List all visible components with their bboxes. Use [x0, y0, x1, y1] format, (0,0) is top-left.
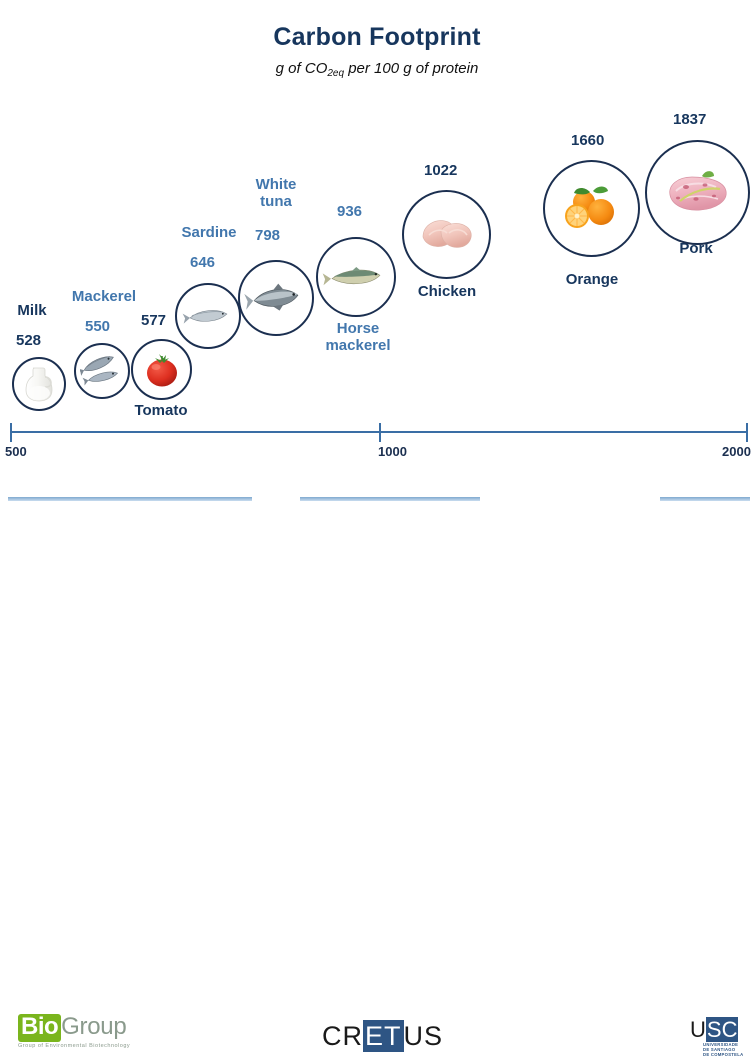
bubble-orange[interactable] [543, 160, 640, 257]
bubble-pork[interactable] [645, 140, 750, 245]
bubble-chicken[interactable] [402, 190, 491, 279]
biogroup-group-text: Group [61, 1014, 126, 1040]
usc-logo[interactable]: USC UNIVERSIDADE DE SANTIAGO DE COMPOSTE… [690, 1019, 743, 1057]
value-horse-mackerel: 936 [337, 203, 362, 220]
footer-divider-left [8, 497, 252, 501]
biogroup-tagline: Group of Environmental Biotechnology [18, 1043, 130, 1049]
bubble-milk[interactable] [12, 357, 66, 411]
biogroup-bio-text: Bio [18, 1014, 61, 1042]
label-mackerel: Mackerel [64, 288, 144, 305]
cretus-part2: ET [363, 1020, 404, 1052]
label-sardine: Sardine [170, 224, 248, 241]
usc-subtitle: UNIVERSIDADE DE SANTIAGO DE COMPOSTELA [703, 1042, 743, 1057]
cretus-logo[interactable]: CRETUS [322, 1021, 443, 1051]
mackerel-fish-icon [76, 345, 128, 397]
value-mackerel: 550 [85, 318, 110, 335]
label-tomato: Tomato [125, 402, 197, 419]
bubble-horse-mackerel[interactable] [316, 237, 396, 317]
bubble-chart-plot-area: 528 Milk 550 [0, 0, 754, 500]
horse-mackerel-icon [318, 239, 394, 315]
orange-fruit-icon [545, 162, 638, 255]
chicken-breast-icon [404, 192, 489, 277]
cretus-part3: US [404, 1021, 444, 1051]
value-sardine: 646 [190, 254, 215, 271]
bubble-mackerel[interactable] [74, 343, 130, 399]
label-horse-mackerel: Horse mackerel [312, 320, 404, 354]
footer-divider-right [660, 497, 750, 501]
biogroup-wordmark: BioGroup [18, 1014, 130, 1042]
label-orange: Orange [553, 271, 631, 288]
value-orange: 1660 [571, 132, 604, 149]
axis-tick-500 [10, 423, 12, 442]
tuna-fish-icon [240, 262, 312, 334]
usc-subtitle-line3: DE COMPOSTELA [703, 1052, 743, 1057]
footer-divider-mid [300, 497, 480, 501]
bubble-sardine[interactable] [175, 283, 241, 349]
value-chicken: 1022 [424, 162, 457, 179]
cretus-part1: CR [322, 1021, 363, 1051]
label-white-tuna: White tuna [240, 176, 312, 210]
label-chicken: Chicken [404, 283, 490, 300]
usc-sc-text: SC [706, 1017, 739, 1042]
axis-tick-2000 [746, 423, 748, 442]
usc-wordmark: USC [690, 1019, 743, 1041]
footer-logos: BioGroup Group of Environmental Biotechn… [0, 497, 754, 566]
bubble-white-tuna[interactable] [238, 260, 314, 336]
label-milk: Milk [8, 302, 56, 319]
axis-tick-label-500: 500 [5, 444, 27, 459]
value-milk: 528 [16, 332, 41, 349]
tomato-icon [133, 341, 190, 398]
bubble-tomato[interactable] [131, 339, 192, 400]
value-pork: 1837 [673, 111, 706, 128]
biogroup-logo[interactable]: BioGroup Group of Environmental Biotechn… [18, 1014, 130, 1049]
axis-tick-1000 [379, 423, 381, 442]
axis-tick-label-1000: 1000 [378, 444, 407, 459]
pork-meat-icon [647, 142, 748, 243]
value-white-tuna: 798 [255, 227, 280, 244]
milk-jug-icon [14, 359, 64, 409]
value-tomato: 577 [141, 312, 166, 329]
axis-tick-label-2000: 2000 [722, 444, 751, 459]
sardine-fish-icon [177, 285, 239, 347]
usc-u-text: U [690, 1017, 706, 1042]
